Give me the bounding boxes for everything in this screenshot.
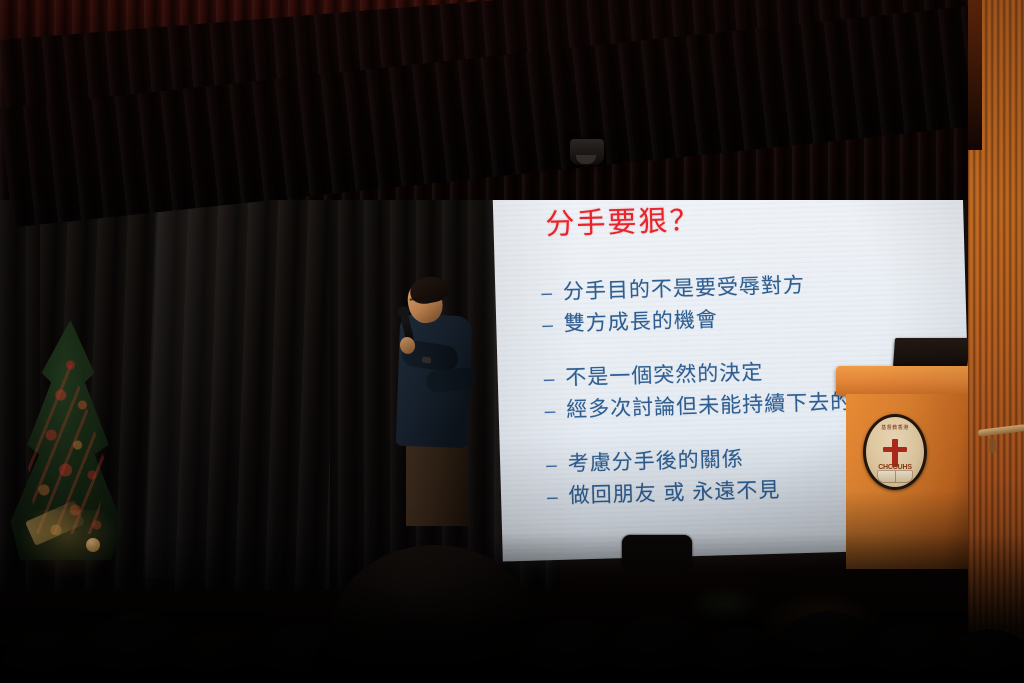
bullet-text: 做回朋友 或 永遠不見 <box>568 474 780 512</box>
bullet-dash: – <box>547 483 559 512</box>
audience-shoulders <box>60 655 216 683</box>
audience-shoulders <box>582 657 736 683</box>
crest-top-text: 基督教香港 <box>866 424 924 431</box>
audience-green-light <box>690 585 760 625</box>
tree-lights-glow <box>18 510 118 580</box>
bullet-text: 考慮分手後的關係 <box>567 443 744 480</box>
audience-shoulders <box>232 663 380 683</box>
speaker <box>400 281 490 526</box>
audience-shoulders <box>312 601 558 683</box>
audience-head <box>78 613 198 683</box>
bullet-text: 雙方成長的機會 <box>563 304 718 340</box>
cross-icon <box>892 439 898 467</box>
bullet-dash: – <box>546 452 558 481</box>
audience-shoulders <box>672 666 812 683</box>
audience-head <box>520 619 632 683</box>
laptop-icon <box>893 338 969 367</box>
bullet-dash: – <box>544 398 556 427</box>
audience-head <box>690 627 794 683</box>
bullet-group-1: – 分手目的不是要受辱對方 – 雙方成長的機會 <box>541 265 967 341</box>
podium-top <box>836 366 986 396</box>
wristwatch-icon <box>422 356 432 363</box>
audience-shoulders <box>0 666 114 683</box>
audience-shoulders <box>150 669 290 683</box>
handrail-bracket <box>989 437 996 453</box>
christmas-tree <box>8 320 128 570</box>
school-crest: 基督教香港 CHCCUHS <box>863 414 927 490</box>
audience-shoulders <box>750 653 908 683</box>
bullet-dash: – <box>543 366 555 395</box>
audience-shoulders <box>842 663 988 683</box>
bullet-text: 分手目的不是要受辱對方 <box>563 270 806 309</box>
audience-head <box>860 623 970 683</box>
stage-light-icon <box>570 139 604 165</box>
bullet-dash: – <box>541 280 553 309</box>
audience-shoulders <box>502 660 650 683</box>
audience-warm-light <box>760 593 880 663</box>
audience-head <box>768 611 890 683</box>
audience-head <box>250 623 362 683</box>
audience-head <box>168 631 272 683</box>
wood-wall-shadow <box>968 0 982 150</box>
speaker-trousers <box>406 441 468 526</box>
bullet-dash: – <box>542 312 554 341</box>
open-book-icon <box>877 470 913 483</box>
auditorium-photo: 分手要狠？ – 分手目的不是要受辱對方 – 雙方成長的機會 – 不是一個突然的決… <box>0 0 1024 683</box>
audience-head <box>0 627 96 683</box>
curtain-highlight <box>143 178 287 582</box>
audience-head <box>600 615 718 683</box>
bullet-text: 經多次討論但未能持續下去的 <box>566 386 853 426</box>
podium: 基督教香港 CHCCUHS <box>836 366 986 566</box>
